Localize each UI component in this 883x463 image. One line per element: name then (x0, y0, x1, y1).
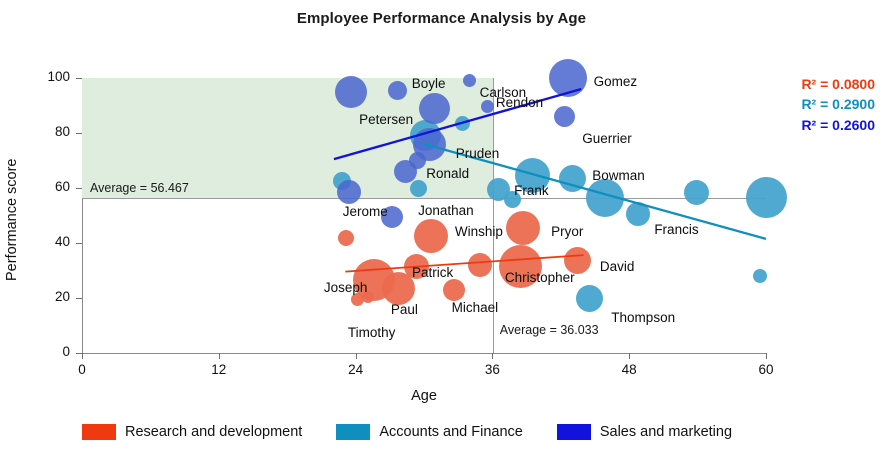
x-axis-title: Age (82, 388, 766, 404)
bubble-label: Boyle (412, 77, 446, 91)
x-axis-line (82, 353, 766, 354)
r-squared-value: R² = 0.2900 (801, 94, 875, 114)
bubble-label: Michael (452, 301, 499, 315)
bubble-label: Ronald (426, 167, 469, 181)
legend-color-swatch (336, 424, 370, 440)
bubble-label: Christopher (505, 271, 575, 285)
r-squared-value: R² = 0.0800 (801, 74, 875, 94)
r-squared-value: R² = 0.2600 (801, 115, 875, 135)
x-axis-tick (766, 353, 767, 359)
y-axis-tick-label: 20 (26, 289, 70, 304)
legend-label: Research and development (125, 424, 302, 440)
legend-item[interactable]: Research and development (82, 424, 302, 440)
bubble-label: Patrick (412, 266, 453, 280)
x-axis-tick-label: 12 (199, 362, 239, 377)
bubble-label: Thompson (611, 311, 675, 325)
legend-item[interactable]: Accounts and Finance (336, 424, 522, 440)
bubble-label: Petersen (359, 113, 413, 127)
legend-label: Accounts and Finance (379, 424, 522, 440)
r-squared-annotations: R² = 0.0800R² = 0.2900R² = 0.2600 (801, 74, 875, 135)
x-axis-tick (356, 353, 357, 359)
x-axis-tick-label: 48 (609, 362, 649, 377)
legend-color-swatch (557, 424, 591, 440)
bubble-label: Timothy (348, 326, 396, 340)
y-axis-tick-label: 80 (26, 124, 70, 139)
x-axis-tick (82, 353, 83, 359)
chart-legend: Research and developmentAccounts and Fin… (82, 424, 832, 440)
bubble-label: Winship (455, 225, 503, 239)
x-axis-tick-label: 0 (62, 362, 102, 377)
x-axis-tick (629, 353, 630, 359)
legend-color-swatch (82, 424, 116, 440)
y-axis-tick-label: 40 (26, 234, 70, 249)
x-axis-tick (219, 353, 220, 359)
y-axis-tick-label: 60 (26, 179, 70, 194)
bubble-label: Pryor (551, 225, 583, 239)
bubble-label: Paul (391, 303, 418, 317)
bubble-chart: Employee Performance Analysis by Age Per… (0, 0, 883, 463)
bubble-label: David (600, 260, 635, 274)
bubble-label: Francis (654, 223, 698, 237)
bubble-label: Bowman (592, 169, 645, 183)
y-axis-title: Performance score (4, 120, 26, 320)
legend-label: Sales and marketing (600, 424, 732, 440)
bubble-label: Frank (514, 184, 549, 198)
legend-item[interactable]: Sales and marketing (557, 424, 732, 440)
x-axis-tick-label: 36 (472, 362, 512, 377)
y-axis-tick-label: 0 (26, 344, 70, 359)
x-axis-tick-label: 60 (746, 362, 786, 377)
bubble-label: Jonathan (418, 204, 474, 218)
bubble-label: Joseph (324, 281, 368, 295)
bubble-label: Jerome (343, 205, 388, 219)
bubble-label: Guerrier (582, 132, 632, 146)
x-axis-tick (492, 353, 493, 359)
bubble-label: Rendon (496, 96, 543, 110)
y-axis-tick-label: 100 (26, 69, 70, 84)
bubble-label: Pruden (456, 147, 500, 161)
page-title: Employee Performance Analysis by Age (0, 10, 883, 27)
plot-area: 02040608010001224364860Average = 56.467A… (82, 78, 766, 353)
x-axis-tick-label: 24 (336, 362, 376, 377)
bubble-label: Gomez (594, 75, 638, 89)
trendline (345, 255, 583, 272)
